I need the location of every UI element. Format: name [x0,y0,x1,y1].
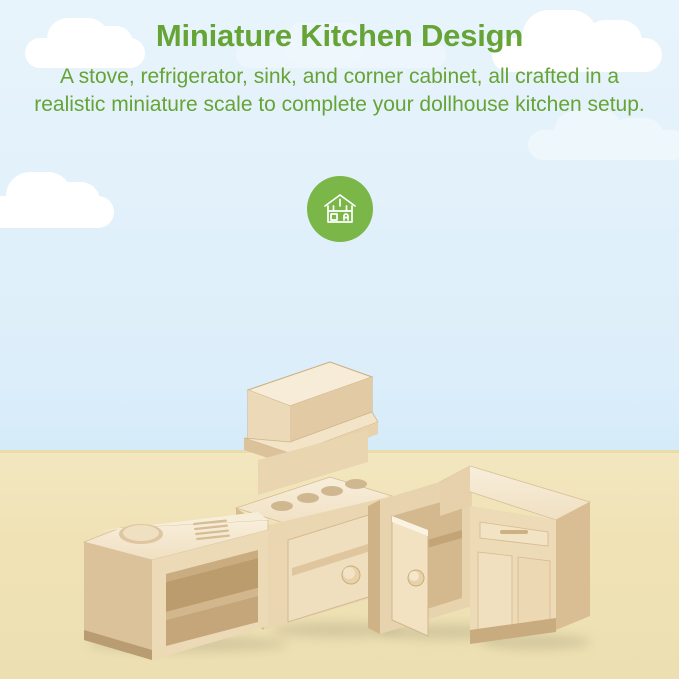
stove-burner [271,501,293,511]
dollhouse-badge [307,176,373,242]
cloud-shape [610,118,664,156]
product-banner: Miniature Kitchen Design A stove, refrig… [0,0,679,679]
cloud-shape [50,182,100,220]
header: Miniature Kitchen Design A stove, refrig… [0,0,679,118]
cabinet-drawer-handle [500,530,528,534]
sink-counter [84,512,268,660]
stove-burner [321,486,343,496]
page-subtitle: A stove, refrigerator, sink, and corner … [0,63,679,119]
dollhouse-icon [318,187,362,231]
page-title: Miniature Kitchen Design [0,18,679,54]
stove-burner [345,479,367,489]
miniature-kitchen-furniture [0,330,679,660]
stove-burner [297,493,319,503]
